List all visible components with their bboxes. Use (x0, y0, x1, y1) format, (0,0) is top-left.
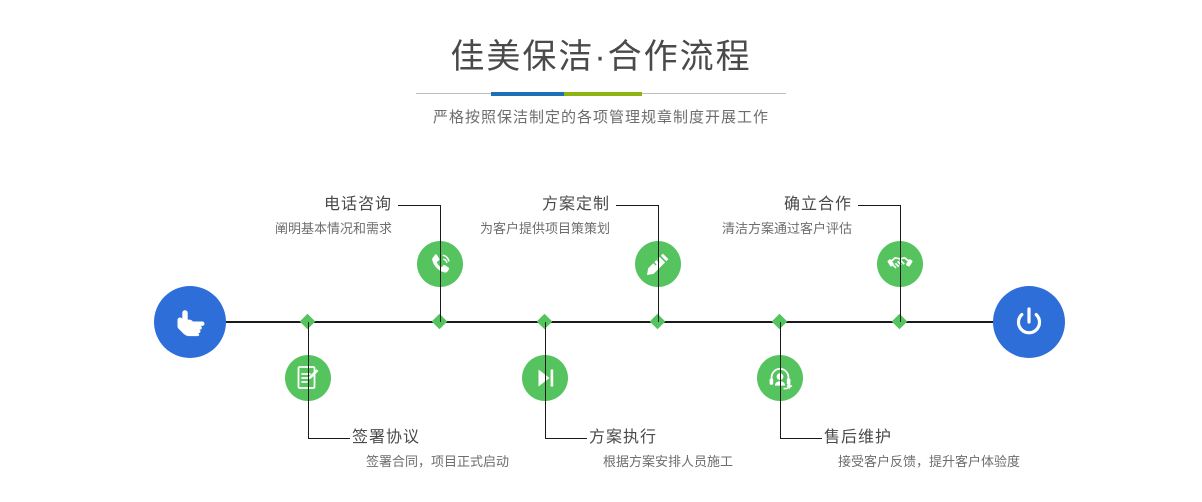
connector-h-3 (545, 438, 587, 439)
step-label-4: 方案定制 为客户提供项目策策划 (398, 194, 610, 239)
connector-v-1 (308, 322, 309, 438)
connector-h-5 (780, 438, 822, 439)
timeline-start-node (154, 286, 226, 358)
connector-h-6 (858, 205, 900, 206)
step-label-3: 方案执行 根据方案安排人员施工 (589, 427, 733, 472)
connector-v-3 (545, 322, 546, 438)
page-subtitle: 严格按照保洁制定的各项管理规章制度开展工作 (0, 107, 1202, 129)
power-icon (1009, 302, 1049, 342)
title-divider (416, 91, 786, 97)
step-desc-2: 阐明基本情况和需求 (180, 219, 392, 239)
step-title-4: 方案定制 (398, 194, 610, 216)
timeline-end-node (993, 286, 1065, 358)
step-title-1: 签署协议 (352, 427, 509, 449)
step-title-3: 方案执行 (589, 427, 733, 449)
connector-h-1 (308, 438, 350, 439)
flow-diagram-page: 佳美保洁·合作流程 严格按照保洁制定的各项管理规章制度开展工作 (0, 0, 1202, 502)
step-desc-1: 签署合同，项目正式启动 (366, 452, 509, 472)
pointing-hand-icon (170, 302, 210, 342)
step-label-2: 电话咨询 阐明基本情况和需求 (180, 194, 392, 239)
divider-green-segment (564, 92, 642, 96)
step-desc-6: 清洁方案通过客户评估 (640, 219, 852, 239)
step-label-1: 签署协议 签署合同，项目正式启动 (352, 427, 509, 472)
header: 佳美保洁·合作流程 严格按照保洁制定的各项管理规章制度开展工作 (0, 34, 1202, 129)
step-label-6: 确立合作 清洁方案通过客户评估 (640, 194, 852, 239)
step-desc-5: 接受客户反馈，提升客户体验度 (838, 452, 1020, 472)
step-desc-3: 根据方案安排人员施工 (603, 452, 733, 472)
step-desc-4: 为客户提供项目策策划 (398, 219, 610, 239)
divider-blue-segment (491, 92, 564, 96)
step-title-2: 电话咨询 (180, 194, 392, 216)
step-title-6: 确立合作 (640, 194, 852, 216)
connector-v-5 (780, 322, 781, 438)
connector-v-6 (900, 205, 901, 322)
page-title: 佳美保洁·合作流程 (0, 34, 1202, 80)
step-label-5: 售后维护 接受客户反馈，提升客户体验度 (824, 427, 1020, 472)
step-title-5: 售后维护 (824, 427, 1020, 449)
